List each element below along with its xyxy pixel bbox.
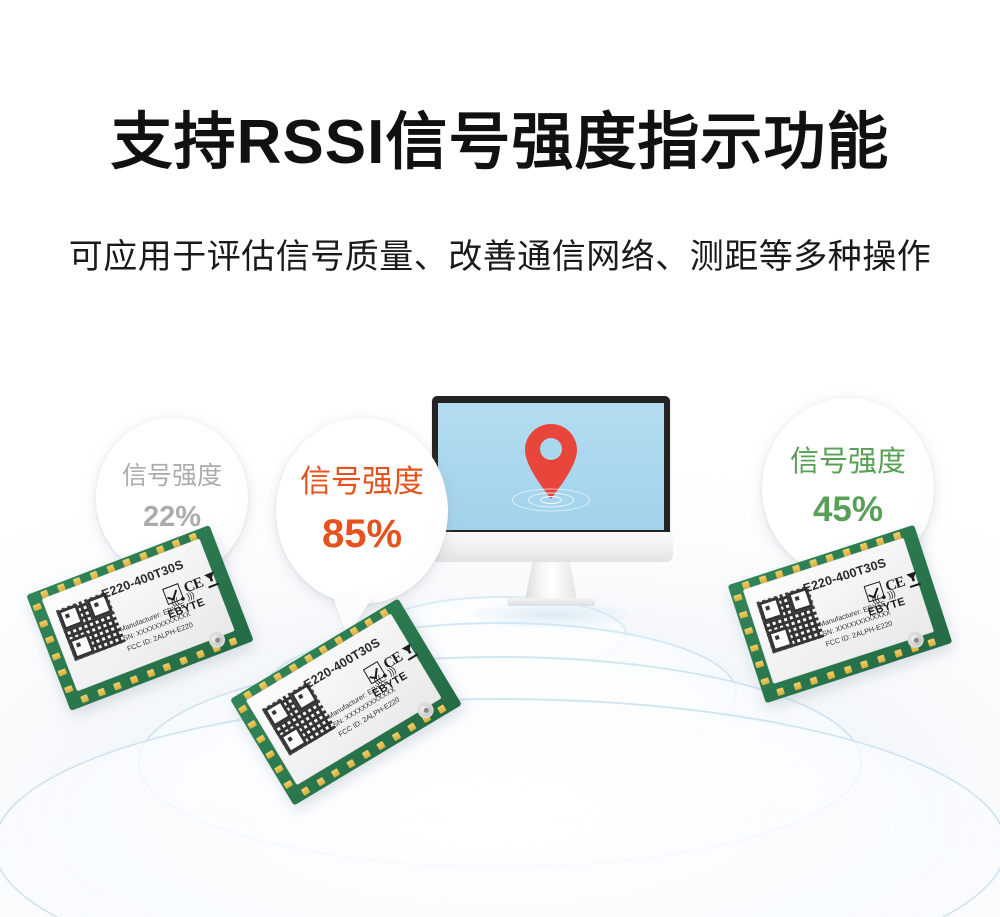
qr-code-icon bbox=[262, 682, 336, 756]
signal-value: 22% bbox=[143, 500, 201, 534]
page-title: 支持RSSI信号强度指示功能 bbox=[0, 112, 1000, 174]
signal-value: 45% bbox=[813, 489, 883, 530]
signal-bubble-strong: 信号强度 85% bbox=[276, 418, 448, 604]
monitor-stand-neck bbox=[525, 562, 577, 600]
monitor-chin bbox=[429, 532, 673, 562]
signal-value: 85% bbox=[322, 511, 402, 558]
monitor-shadow bbox=[473, 602, 629, 628]
page-subtitle: 可应用于评估信号质量、改善通信网络、测距等多种操作 bbox=[0, 240, 1000, 274]
signal-ripple-icon bbox=[509, 489, 593, 511]
desktop-monitor bbox=[432, 396, 670, 626]
promo-banner: 支持RSSI信号强度指示功能 可应用于评估信号质量、改善通信网络、测距等多种操作 bbox=[0, 0, 1000, 917]
monitor-bezel bbox=[432, 396, 670, 535]
qr-code-icon bbox=[56, 591, 126, 661]
monitor-screen bbox=[438, 403, 664, 530]
map-pin-icon bbox=[520, 421, 582, 513]
signal-label: 信号强度 bbox=[790, 445, 906, 479]
qr-code-icon bbox=[756, 586, 824, 654]
pin-ring-outer bbox=[512, 488, 590, 511]
signal-label: 信号强度 bbox=[300, 464, 424, 501]
signal-label: 信号强度 bbox=[122, 462, 222, 492]
ripple-ring-4 bbox=[0, 698, 1000, 917]
